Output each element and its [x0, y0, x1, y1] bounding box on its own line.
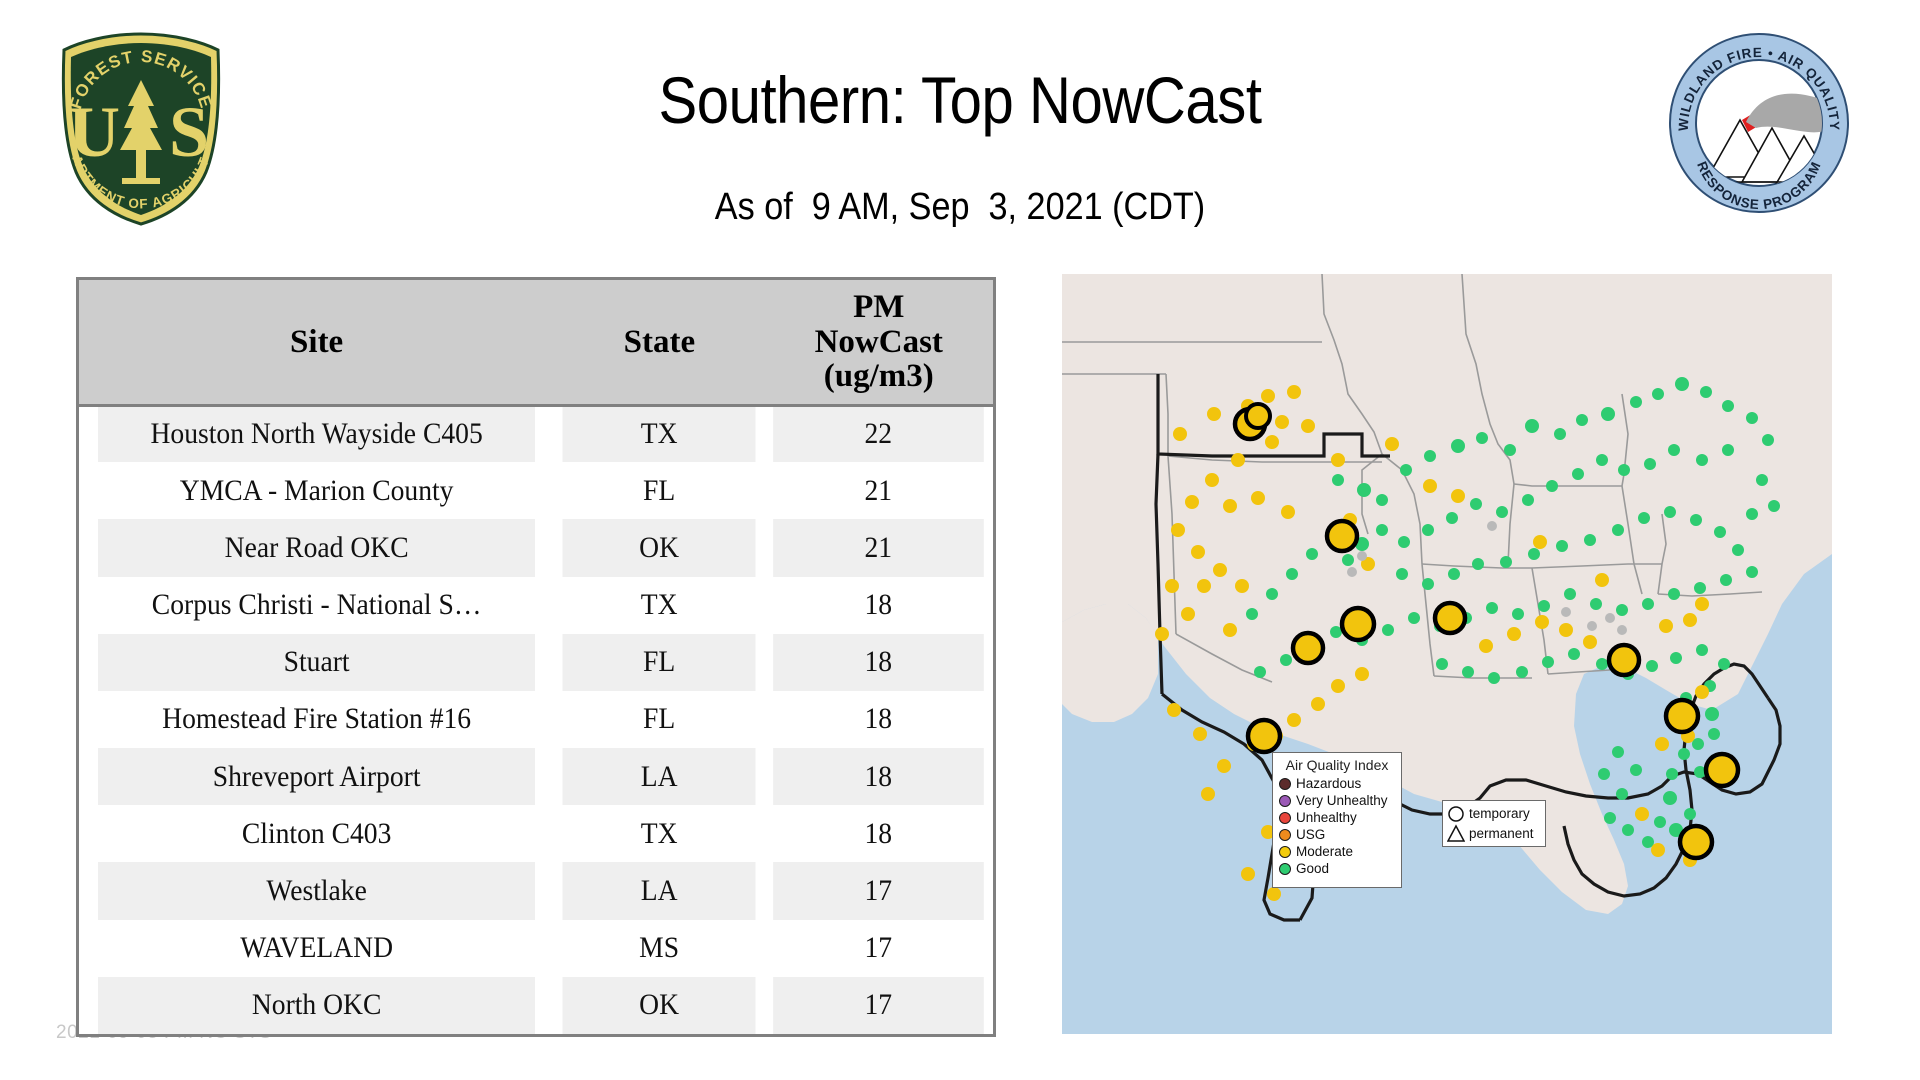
- cell-state: TX: [563, 405, 756, 462]
- highlight-clinton-c403: [1293, 633, 1323, 663]
- wfaqrp-logo: WILDLAND FIRE • AIR QUALITY RESPONSE PRO…: [1668, 32, 1850, 214]
- highlight-corpus-christi: [1248, 720, 1280, 752]
- legend-label-temporary: temporary: [1469, 804, 1534, 824]
- slide-canvas: 2021-09-03 PM NC STS FOREST SERVICE U S …: [0, 0, 1920, 1080]
- highlight-stuart: [1706, 754, 1738, 786]
- cell-site: Clinton C403: [98, 805, 535, 862]
- table-header-row: Site State PM NowCast (ug/m3): [79, 280, 993, 405]
- usg-swatch-icon: [1279, 829, 1291, 841]
- table-row: Shreveport AirportLA18: [79, 748, 993, 805]
- cell-state: OK: [563, 977, 756, 1034]
- highlight-shreveport-airport: [1327, 521, 1357, 551]
- cell-pm: 18: [774, 748, 984, 805]
- legend-item-very-unhealthy: Very Unhealthy: [1279, 792, 1395, 809]
- cell-pm: 17: [774, 862, 984, 919]
- highlight-homestead-fire-station: [1680, 826, 1712, 858]
- page-subtitle: As of 9 AM, Sep 3, 2021 (CDT): [96, 186, 1824, 229]
- cell-state: FL: [563, 634, 756, 691]
- southern-region-air-quality-map[interactable]: [1062, 274, 1832, 1034]
- top-nowcast-table: Site State PM NowCast (ug/m3) Houston No…: [76, 277, 996, 1037]
- cell-state: TX: [563, 577, 756, 634]
- legend-label-permanent: permanent: [1469, 824, 1534, 844]
- cell-state: TX: [563, 805, 756, 862]
- cell-pm: 21: [774, 519, 984, 576]
- unhealthy-swatch-icon: [1279, 812, 1291, 824]
- table-row: YMCA - Marion CountyFL21: [79, 462, 993, 519]
- legend-item-unhealthy: Unhealthy: [1279, 809, 1395, 826]
- table-row: Clinton C403TX18: [79, 805, 993, 862]
- cell-site: Near Road OKC: [98, 519, 535, 576]
- cell-pm: 18: [774, 805, 984, 862]
- cell-state: FL: [563, 462, 756, 519]
- cell-pm: 17: [774, 920, 984, 977]
- column-header-pm-nowcast: PM NowCast (ug/m3): [764, 280, 993, 405]
- page-title: Southern: Top NowCast: [115, 62, 1805, 138]
- map-svg: [1062, 274, 1832, 1034]
- column-header-site: Site: [79, 280, 554, 405]
- cell-site: North OKC: [98, 977, 535, 1034]
- cell-site: Shreveport Airport: [98, 748, 535, 805]
- cell-site: Houston North Wayside C405: [98, 405, 535, 462]
- usfs-shield-logo: FOREST SERVICE U S DEPARTMENT OF AGRICUL…: [46, 28, 236, 228]
- highlight-north-okc: [1246, 404, 1270, 428]
- cell-state: FL: [563, 691, 756, 748]
- good-swatch-icon: [1279, 863, 1291, 875]
- highlight-westlake: [1609, 645, 1639, 675]
- column-header-state: State: [554, 280, 764, 405]
- cell-state: MS: [563, 920, 756, 977]
- cell-pm: 18: [774, 691, 984, 748]
- legend-item-moderate: Moderate: [1279, 843, 1395, 860]
- cell-state: LA: [563, 748, 756, 805]
- table-row: StuartFL18: [79, 634, 993, 691]
- very-unhealthy-swatch-icon: [1279, 795, 1291, 807]
- table-row: Houston North Wayside C405TX22: [79, 405, 993, 462]
- moderate-swatch-icon: [1279, 846, 1291, 858]
- cell-site: WAVELAND: [98, 920, 535, 977]
- pm-header-line-3: (ug/m3): [768, 359, 989, 393]
- cell-site: Stuart: [98, 634, 535, 691]
- cell-pm: 17: [774, 977, 984, 1034]
- temporary-circle-icon: [1449, 807, 1463, 821]
- cell-site: YMCA - Marion County: [98, 462, 535, 519]
- hazardous-swatch-icon: [1279, 778, 1291, 790]
- cell-pm: 18: [774, 634, 984, 691]
- pm-header-line-1: PM: [768, 290, 989, 324]
- highlight-waveland: [1435, 603, 1465, 633]
- air-quality-index-legend: Air Quality Index Hazardous Very Unhealt…: [1272, 752, 1402, 888]
- legend-item-good: Good: [1279, 860, 1395, 877]
- cell-pm: 22: [774, 405, 984, 462]
- cell-state: LA: [563, 862, 756, 919]
- legend-item-hazardous: Hazardous: [1279, 775, 1395, 792]
- table-row: Homestead Fire Station #16FL18: [79, 691, 993, 748]
- legend-item-usg: USG: [1279, 826, 1395, 843]
- cell-pm: 21: [774, 462, 984, 519]
- highlight-ymca-marion-county: [1666, 700, 1698, 732]
- pm-header-line-2: NowCast: [768, 325, 989, 359]
- table-row: WestlakeLA17: [79, 862, 993, 919]
- cell-pm: 18: [774, 577, 984, 634]
- cell-site: Homestead Fire Station #16: [98, 691, 535, 748]
- permanent-triangle-icon: [1448, 826, 1464, 841]
- legend-title: Air Quality Index: [1279, 757, 1395, 773]
- highlight-houston-north-wayside: [1342, 608, 1374, 640]
- table-row: Near Road OKCOK21: [79, 519, 993, 576]
- table-row: WAVELANDMS17: [79, 920, 993, 977]
- table-row: Corpus Christi - National S…TX18: [79, 577, 993, 634]
- cell-state: OK: [563, 519, 756, 576]
- table-row: North OKCOK17: [79, 977, 993, 1034]
- monitor-type-legend: temporary permanent: [1442, 800, 1546, 847]
- cell-site: Corpus Christi - National S…: [98, 577, 535, 634]
- cell-site: Westlake: [98, 862, 535, 919]
- monitor-type-shapes: [1447, 804, 1465, 844]
